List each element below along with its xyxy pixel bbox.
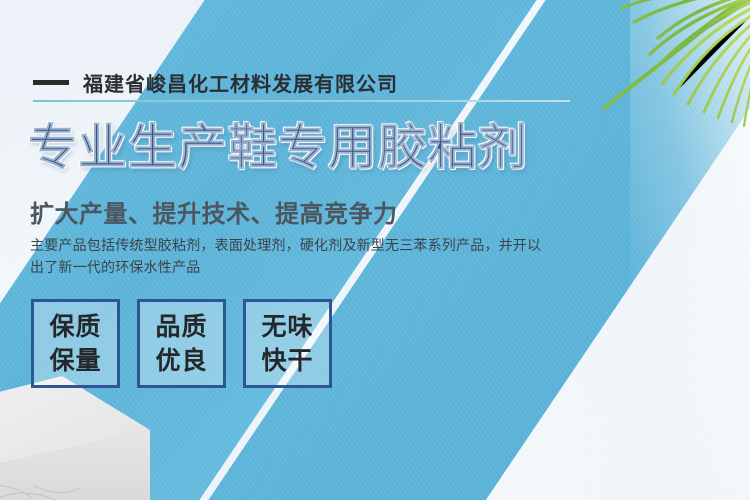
feature-box-3: 无味 快干	[243, 299, 332, 388]
dash-accent-icon	[33, 80, 69, 85]
feature-box-3-line-1: 无味	[261, 310, 313, 344]
header-divider	[33, 100, 570, 102]
headline: 专业生产鞋专用胶粘剂	[28, 122, 528, 175]
feature-box-2-line-2: 优良	[155, 344, 207, 378]
feature-box-3-line-2: 快干	[261, 344, 313, 378]
body-line-1: 主要产品包括传统型胶粘剂，表面处理剂，硬化剂及新型无三苯系列产品，并开以	[30, 234, 590, 256]
body-text: 主要产品包括传统型胶粘剂，表面处理剂，硬化剂及新型无三苯系列产品，并开以 出了新…	[30, 234, 590, 278]
feature-box-1-line-1: 保质	[49, 310, 101, 344]
promo-banner: 福建省峻昌化工材料发展有限公司 专业生产鞋专用胶粘剂 扩大产量、提升技术、提高竞…	[0, 0, 750, 500]
company-header: 福建省峻昌化工材料发展有限公司	[33, 68, 398, 97]
feature-box-1-line-2: 保量	[49, 344, 101, 378]
feature-box-group: 保质 保量 品质 优良 无味 快干	[31, 299, 332, 388]
feature-box-2-line-1: 品质	[155, 310, 207, 344]
body-line-2: 出了新一代的环保水性产品	[30, 256, 590, 278]
feature-box-2: 品质 优良	[137, 299, 226, 388]
banner-content: 福建省峻昌化工材料发展有限公司 专业生产鞋专用胶粘剂 扩大产量、提升技术、提高竞…	[0, 0, 750, 500]
feature-box-1: 保质 保量	[31, 299, 120, 388]
company-name: 福建省峻昌化工材料发展有限公司	[83, 68, 398, 97]
subtitle: 扩大产量、提升技术、提高竞争力	[30, 194, 398, 229]
